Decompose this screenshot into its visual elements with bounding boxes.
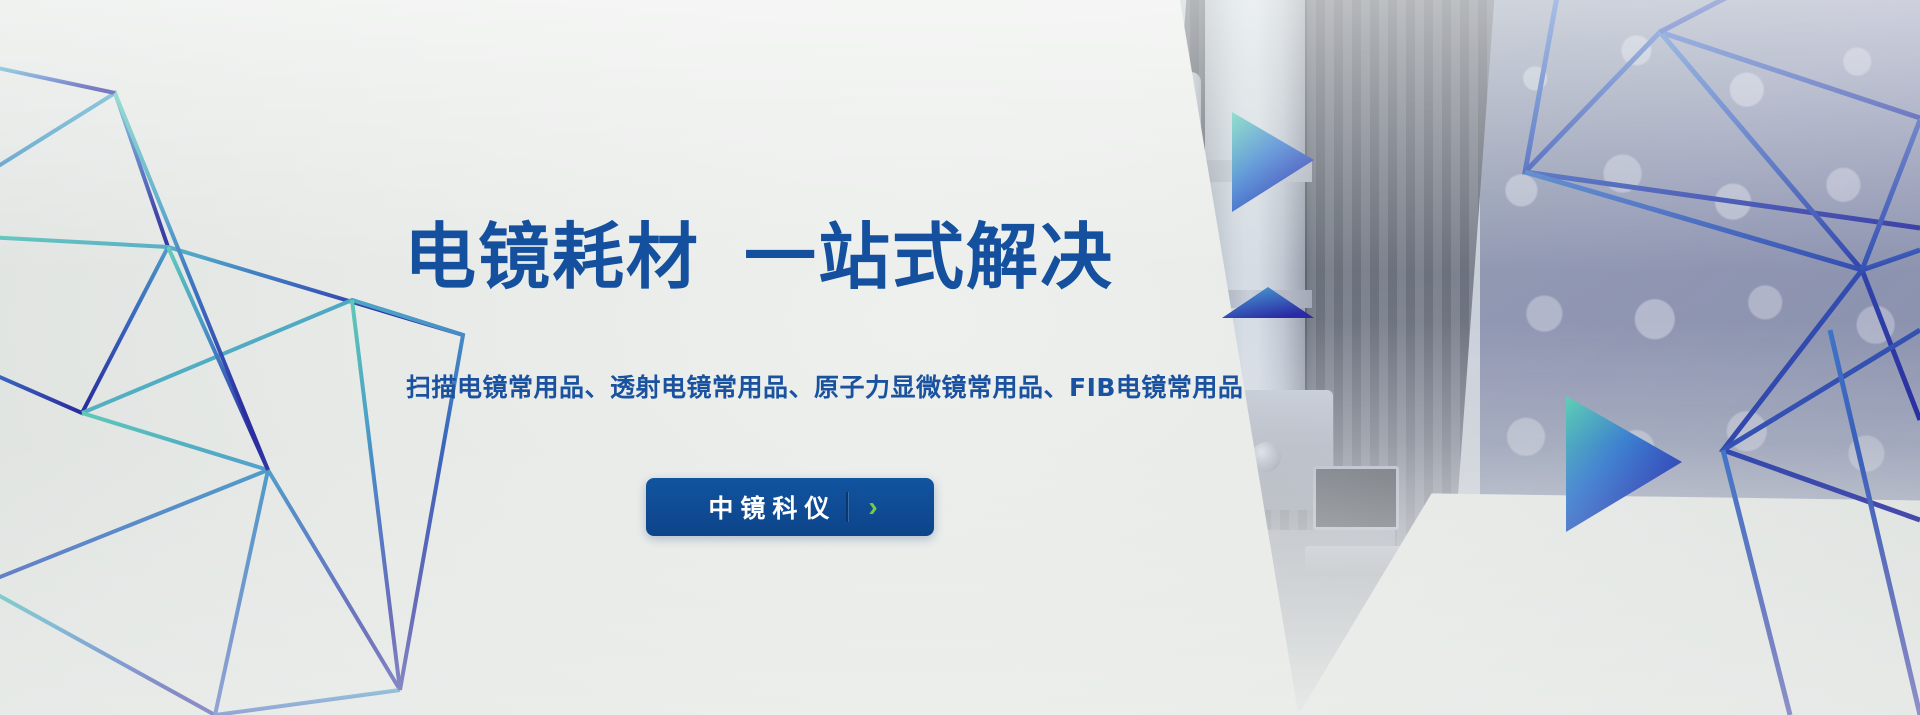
hero-banner: 电镜耗材一站式解决 扫描电镜常用品、透射电镜常用品、原子力显微镜常用品、FIB电… — [0, 0, 1920, 715]
play-triangle-lower — [1566, 396, 1682, 532]
cta-button-zhongjing-keyi[interactable]: 中镜科仪 › — [646, 478, 934, 536]
chevron-right-icon: › — [868, 493, 877, 521]
wireframe-lattice-right — [1525, 0, 1920, 715]
headline-part-2: 一站式解决 — [744, 215, 1114, 299]
headline-part-1: 电镜耗材 — [404, 215, 700, 299]
cta-button-label: 中镜科仪 — [702, 489, 836, 525]
hero-copy-block: 电镜耗材一站式解决 扫描电镜常用品、透射电镜常用品、原子力显微镜常用品、FIB电… — [0, 0, 1250, 715]
page-title: 电镜耗材一站式解决 — [404, 198, 1114, 303]
cta-divider — [846, 492, 848, 522]
hero-subtitle: 扫描电镜常用品、透射电镜常用品、原子力显微镜常用品、FIB电镜常用品 — [406, 368, 1243, 404]
